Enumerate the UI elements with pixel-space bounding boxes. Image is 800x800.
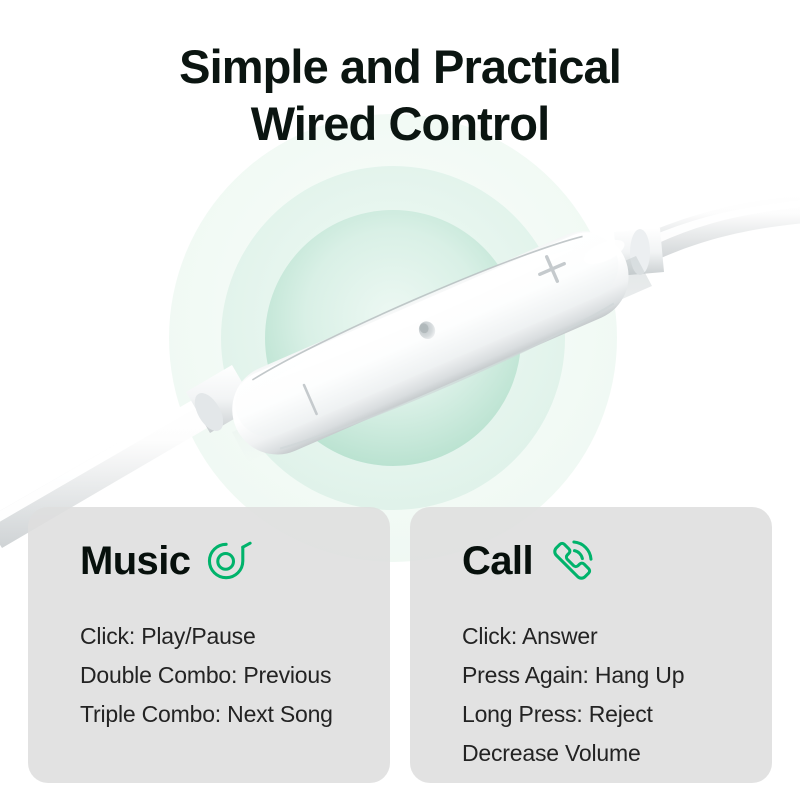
card-music[interactable]: Music Click: Play/Pause Double Combo: Pr… [28, 507, 390, 783]
list-item: Decrease Volume [462, 734, 772, 773]
card-call[interactable]: Call Click: Answer Press Again: Hang Up … [410, 507, 772, 783]
list-item: Triple Combo: Next Song [80, 695, 390, 734]
list-item: Click: Play/Pause [80, 617, 390, 656]
list-item: Press Again: Hang Up [462, 656, 772, 695]
microphone-hole [416, 319, 438, 342]
ring-middle [221, 166, 565, 510]
cable-upper-right [640, 194, 800, 262]
product-infographic-poster: Simple and Practical Wired Control [0, 0, 800, 800]
list-item: Click: Answer [462, 617, 772, 656]
music-note-icon [206, 538, 252, 584]
headline-line-2: Wired Control [0, 95, 800, 152]
card-music-header: Music [80, 533, 390, 589]
list-item: Long Press: Reject [462, 695, 772, 734]
card-call-title: Call [462, 539, 533, 583]
card-call-lines: Click: Answer Press Again: Hang Up Long … [462, 617, 772, 773]
list-item: Double Combo: Previous [80, 656, 390, 695]
remote-body [218, 216, 644, 469]
strain-relief-collar-left [186, 365, 256, 436]
specular-highlight [580, 235, 628, 269]
card-music-title: Music [80, 539, 190, 583]
volume-up-button[interactable] [532, 249, 571, 288]
ring-outer [169, 114, 617, 562]
volume-down-button[interactable] [302, 383, 318, 415]
phone-call-icon [549, 538, 595, 584]
card-call-header: Call [462, 533, 772, 589]
card-music-lines: Click: Play/Pause Double Combo: Previous… [80, 617, 390, 734]
headline-line-1: Simple and Practical [0, 38, 800, 95]
page-title: Simple and Practical Wired Control [0, 38, 800, 152]
strain-relief-collar-right [614, 228, 664, 276]
ring-inner [265, 210, 521, 466]
remote-shadow [232, 256, 652, 462]
feature-cards: Music Click: Play/Pause Double Combo: Pr… [28, 507, 772, 783]
